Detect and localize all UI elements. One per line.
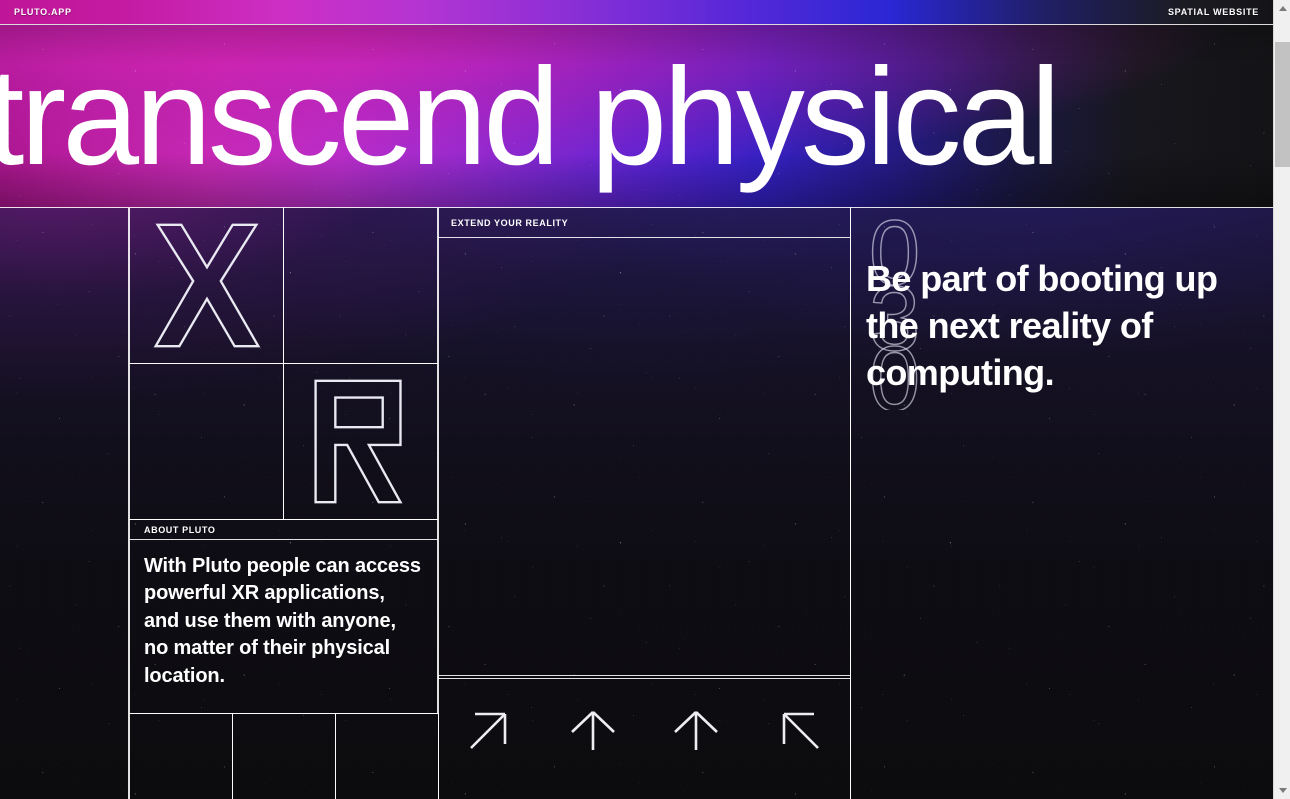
arrow-indicator-row-cell [438,675,851,799]
top-bar: PLUTO.APP SPATIAL WEBSITE [0,0,1273,25]
arrow-indicator-row [439,706,850,754]
site-tagline[interactable]: SPATIAL WEBSITE [1168,7,1259,17]
content-grid: ABOUT PLUTO With Pluto people can access… [0,208,1273,799]
scrollbar-track[interactable] [1274,17,1290,782]
hero-section: transcend physical [0,25,1273,208]
right-panel-headline: Be part of booting up the next reality o… [866,256,1258,396]
scroll-down-button[interactable] [1274,782,1290,799]
brand-logo[interactable]: PLUTO.APP [14,7,72,17]
vertical-scrollbar[interactable] [1273,0,1290,799]
about-section-label: ABOUT PLUTO [130,525,215,535]
letter-cell-x[interactable] [129,207,284,364]
letter-cell-r[interactable] [283,363,438,520]
about-body-text: With Pluto people can access powerful XR… [130,539,437,690]
extend-reality-label-bar: EXTEND YOUR REALITY [438,207,851,238]
arrow-up-right-icon[interactable] [463,706,517,754]
bottom-cell-2[interactable] [232,713,336,799]
empty-cell-top-right[interactable] [283,207,438,364]
scroll-up-button[interactable] [1274,0,1290,17]
extend-reality-label: EXTEND YOUR REALITY [439,218,568,228]
right-panel: 0 3 0 Be part of booting up the next rea… [850,207,1273,799]
left-spacer-column [0,207,129,799]
bottom-cell-3[interactable] [335,713,439,799]
page-viewport: PLUTO.APP SPATIAL WEBSITE transcend phys… [0,0,1273,799]
top-bar-gradient [0,0,1273,24]
xr-viewer-stage[interactable] [438,237,851,679]
arrow-up-icon[interactable] [566,706,620,754]
arrow-up-icon[interactable] [669,706,723,754]
scrollbar-thumb[interactable] [1275,42,1290,167]
letter-r-outline-icon [284,364,437,519]
chevron-up-icon [1279,6,1287,11]
hero-headline-marquee: transcend physical [0,48,1057,186]
empty-cell-bottom-left[interactable] [129,363,284,520]
arrow-up-left-icon[interactable] [772,706,826,754]
letter-x-outline-icon [130,208,283,363]
about-body-cell: With Pluto people can access powerful XR… [129,539,438,714]
chevron-down-icon [1279,788,1287,793]
bottom-cell-1[interactable] [129,713,233,799]
about-label-bar: ABOUT PLUTO [129,519,438,540]
